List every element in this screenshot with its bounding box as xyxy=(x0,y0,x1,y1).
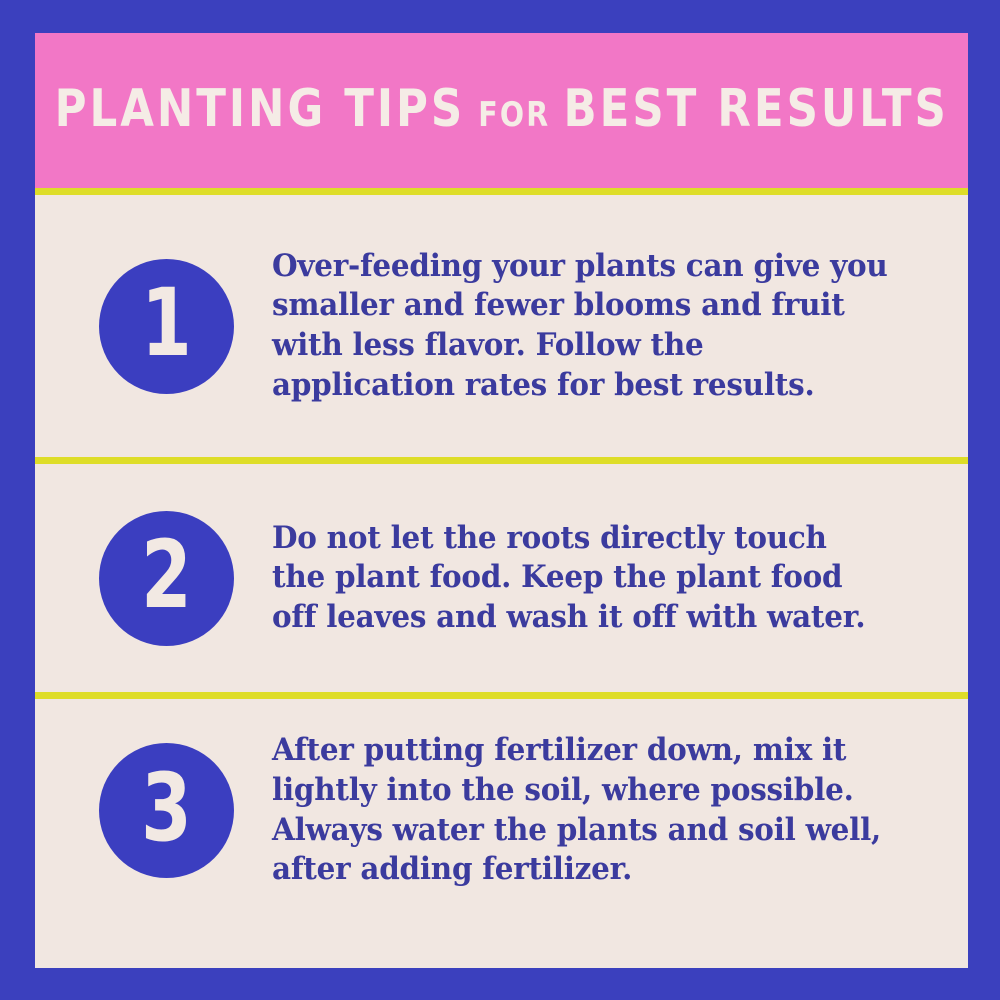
header-band: PLANTING TIPS FOR BEST RESULTS xyxy=(35,33,968,188)
planting-tips-infographic: PLANTING TIPS FOR BEST RESULTS 1 Over-fe… xyxy=(0,0,1000,1000)
tip-number-badge-1: 1 xyxy=(99,259,234,394)
title-segment-best-results: BEST RESULTS xyxy=(563,83,948,135)
divider-rule-top xyxy=(35,188,968,195)
tip-number-2: 2 xyxy=(141,529,192,623)
title-segment-planting-tips: PLANTING TIPS xyxy=(54,83,465,135)
tips-card: PLANTING TIPS FOR BEST RESULTS 1 Over-fe… xyxy=(35,33,968,968)
title-segment-for: FOR xyxy=(465,98,563,132)
tip-number-badge-2: 2 xyxy=(99,511,234,646)
tip-text-3: After putting fertilizer down, mix it li… xyxy=(272,731,890,890)
tips-list: 1 Over-feeding your plants can give you … xyxy=(35,195,968,968)
tip-number-badge-3: 3 xyxy=(99,743,234,878)
divider-rule-2 xyxy=(35,692,968,699)
tip-text-1: Over-feeding your plants can give you sm… xyxy=(272,247,890,406)
tip-item-1: 1 Over-feeding your plants can give you … xyxy=(35,195,968,457)
tip-item-3: 3 After putting fertilizer down, mix it … xyxy=(35,699,968,968)
tip-item-2: 2 Do not let the roots directly touch th… xyxy=(35,464,968,692)
divider-rule-1 xyxy=(35,457,968,464)
tip-text-2: Do not let the roots directly touch the … xyxy=(272,519,890,638)
tip-number-1: 1 xyxy=(141,277,192,371)
page-title: PLANTING TIPS FOR BEST RESULTS xyxy=(54,83,948,135)
tip-number-3: 3 xyxy=(141,762,192,856)
